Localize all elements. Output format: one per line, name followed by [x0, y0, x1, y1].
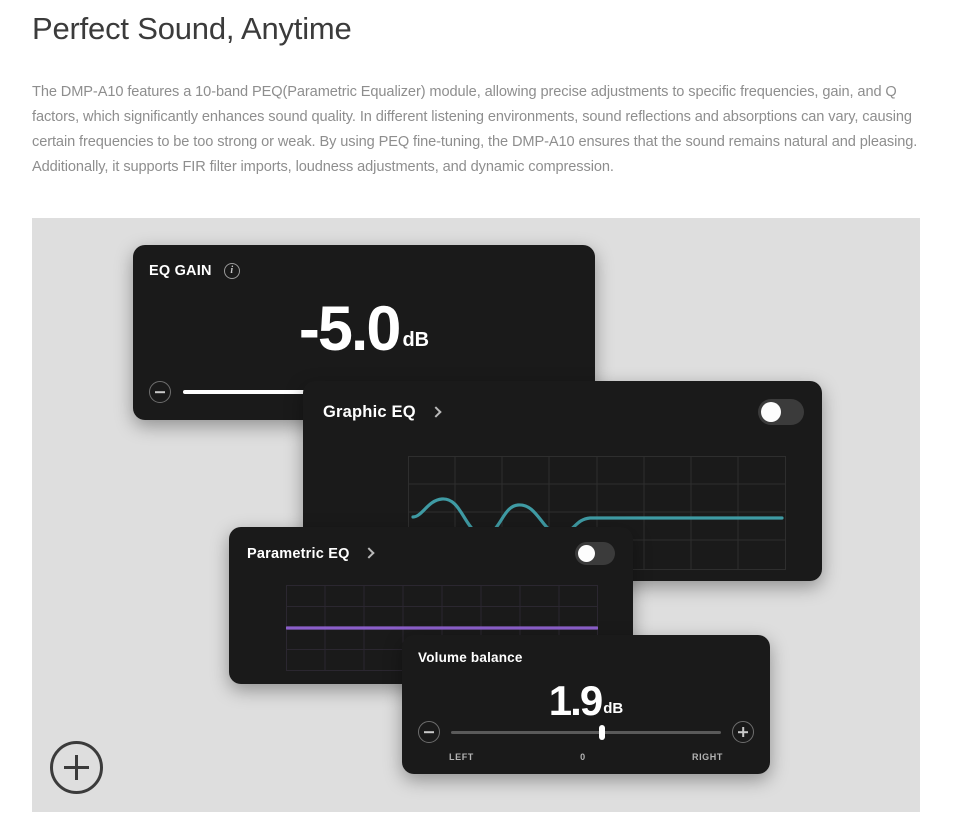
graphic-eq-header: Graphic EQ — [323, 399, 804, 425]
volume-balance-scale-labels: LEFT 0 RIGHT — [449, 752, 723, 762]
volume-balance-slider-thumb[interactable] — [599, 725, 605, 740]
card-volume-balance[interactable]: Volume balance 1.9 dB LEFT 0 RIGHT — [402, 635, 770, 774]
graphic-eq-toggle[interactable] — [758, 399, 804, 425]
article-body-text: The DMP-A10 features a 10-band PEQ(Param… — [32, 80, 922, 180]
eq-gain-value: -5.0 — [299, 300, 400, 358]
plus-icon-v — [742, 727, 744, 737]
volume-balance-title: Volume balance — [418, 650, 523, 665]
volume-balance-slider[interactable] — [451, 731, 721, 734]
volume-balance-unit: dB — [603, 700, 623, 717]
minus-icon — [155, 391, 165, 393]
volume-balance-value: 1.9 — [549, 681, 601, 721]
page-title: Perfect Sound, Anytime — [32, 10, 352, 49]
info-icon[interactable]: i — [224, 263, 240, 279]
eq-gain-unit: dB — [402, 329, 429, 352]
eq-gain-value-row: -5.0 dB — [133, 300, 595, 358]
eq-gain-title: EQ GAIN — [149, 263, 212, 279]
chevron-right-icon[interactable] — [363, 548, 374, 559]
parametric-eq-title-group[interactable]: Parametric EQ — [247, 545, 373, 563]
volume-balance-increment-button[interactable] — [732, 721, 754, 743]
add-button[interactable] — [50, 741, 103, 794]
parametric-eq-toggle[interactable] — [575, 542, 615, 565]
showcase-panel: EQ GAIN i -5.0 dB Graphic EQ — [32, 218, 920, 812]
eq-gain-title-row: EQ GAIN i — [149, 263, 240, 279]
volume-balance-left-label: LEFT — [449, 752, 474, 762]
parametric-eq-header: Parametric EQ — [247, 542, 615, 565]
volume-balance-decrement-button[interactable] — [418, 721, 440, 743]
toggle-knob — [578, 545, 595, 562]
volume-balance-center-label: 0 — [580, 752, 586, 762]
graphic-eq-title-group[interactable]: Graphic EQ — [323, 403, 440, 422]
chevron-right-icon[interactable] — [431, 407, 442, 418]
volume-balance-right-label: RIGHT — [692, 752, 723, 762]
volume-balance-value-row: 1.9 dB — [402, 681, 770, 721]
minus-icon — [424, 731, 434, 733]
toggle-knob — [761, 402, 781, 422]
eq-gain-decrement-button[interactable] — [149, 381, 171, 403]
plus-icon-v — [75, 755, 78, 780]
parametric-eq-title: Parametric EQ — [247, 546, 350, 562]
graphic-eq-title: Graphic EQ — [323, 403, 416, 421]
volume-balance-controls — [418, 721, 754, 743]
